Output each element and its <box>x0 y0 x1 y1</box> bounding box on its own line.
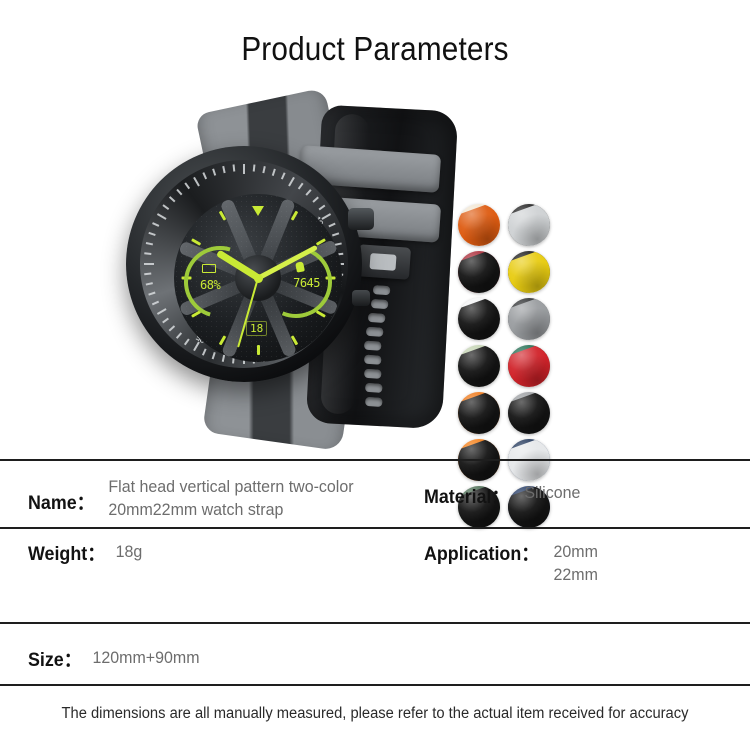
bezel-tick <box>144 263 154 265</box>
spec-label-application: Application： <box>424 539 539 566</box>
color-swatch-black-gray[interactable] <box>508 298 550 340</box>
bezel-tick <box>212 169 216 176</box>
watch-pusher-button <box>352 290 370 306</box>
spec-row-material: Material： Silicone <box>424 482 584 509</box>
bezel-tick <box>169 326 175 332</box>
battery-value: 68% <box>200 278 220 292</box>
bezel-tick <box>157 308 167 315</box>
bezel-tick <box>177 333 183 339</box>
swatch-gloss <box>508 392 550 434</box>
color-option-grid[interactable] <box>458 204 558 512</box>
spec-value-name: Flat head vertical pattern two-color 20m… <box>99 476 354 522</box>
color-swatch-sage-black[interactable] <box>458 345 500 387</box>
swatch-gloss <box>458 251 500 293</box>
spec-row-size: Size： 120mm+90mm <box>28 645 207 672</box>
swatch-gloss <box>508 345 550 387</box>
bezel-tick <box>203 349 207 356</box>
spec-value-application: 20mm 22mm <box>546 539 598 587</box>
swatch-gloss <box>508 298 550 340</box>
bezel-tick <box>329 223 336 227</box>
bezel-tick <box>319 205 326 210</box>
bezel-tick <box>144 273 151 275</box>
bezel-tick <box>332 232 339 236</box>
bezel-tick <box>222 166 225 173</box>
table-divider <box>0 527 750 529</box>
product-hero: 1015203035 68% 7645 18 <box>0 92 750 442</box>
spec-row-application: Application： 20mm 22mm <box>424 539 602 587</box>
battery-icon <box>202 264 216 273</box>
bezel-tick <box>281 172 285 179</box>
strap-vent-hole <box>366 327 384 337</box>
strap-vent-hole <box>365 383 383 393</box>
bezel-tick <box>203 172 207 179</box>
bezel-tick <box>146 283 153 286</box>
bezel-tick <box>149 292 156 296</box>
bezel-tick <box>288 177 295 187</box>
table-divider <box>0 622 750 624</box>
bezel-tick <box>185 339 190 346</box>
spec-value-name-line1: Flat head vertical pattern two-color <box>108 476 353 499</box>
bezel-tick <box>152 223 159 227</box>
swatch-gloss <box>458 204 500 246</box>
bezel-tick <box>243 164 245 174</box>
spec-label-size: Size： <box>28 645 82 672</box>
measurement-disclaimer: The dimensions are all manually measured… <box>19 705 732 723</box>
spec-value-weight: 18g <box>110 539 142 564</box>
watch-case: 1015203035 68% 7645 18 <box>126 146 362 382</box>
color-swatch-green-red[interactable] <box>508 345 550 387</box>
spec-label-material: Material： <box>424 482 509 509</box>
bezel-tick <box>212 352 216 359</box>
color-swatch-black-yellow[interactable] <box>508 251 550 293</box>
bezel-tick <box>263 166 266 173</box>
swatch-gloss <box>458 345 500 387</box>
swatch-gloss <box>458 392 500 434</box>
bezel-tick <box>222 355 225 362</box>
bezel-tick <box>272 169 276 176</box>
color-swatch-gray-black[interactable] <box>508 392 550 434</box>
watch-dial: 68% 7645 18 <box>174 194 342 362</box>
steps-value: 7645 <box>293 276 320 290</box>
swatch-gloss <box>508 251 550 293</box>
bezel-tick <box>157 213 167 220</box>
page-title: Product Parameters <box>38 30 713 68</box>
product-watch-image: 1015203035 68% 7645 18 <box>118 98 458 438</box>
spec-value-application-line2: 22mm <box>554 564 598 587</box>
bezel-tick <box>163 318 170 323</box>
dial-top-marker <box>252 206 264 216</box>
watch-crown <box>348 208 374 230</box>
spec-label-name: Name： <box>28 476 95 515</box>
bezel-tick <box>149 232 156 236</box>
table-divider <box>0 459 750 461</box>
color-swatch-black-silver[interactable] <box>508 204 550 246</box>
bezel-tick <box>298 183 303 190</box>
spec-value-name-line2: 20mm22mm watch strap <box>108 499 353 522</box>
bezel-tick <box>152 301 159 305</box>
table-divider <box>0 684 750 686</box>
bezel-tick <box>177 189 183 195</box>
dial-index <box>257 345 260 355</box>
strap-vent-hole <box>373 285 391 295</box>
bezel-tick <box>313 197 319 203</box>
hand-center-cap <box>254 274 263 283</box>
strap-vent-hole <box>370 299 388 309</box>
spec-label-weight: Weight： <box>28 539 105 566</box>
spec-value-size: 120mm+90mm <box>85 645 200 670</box>
strap-vent-hole <box>365 397 383 407</box>
spec-value-material: Silicone <box>515 482 580 505</box>
bezel-tick <box>185 183 190 190</box>
strap-vent-hole <box>364 369 382 379</box>
spec-row-name: Name： Flat head vertical pattern two-col… <box>28 476 370 522</box>
bezel-tick <box>163 205 170 210</box>
bezel-tick <box>193 177 200 187</box>
strap-vent-hole <box>368 313 386 323</box>
bezel-tick <box>169 197 175 203</box>
date-value: 18 <box>246 321 267 336</box>
color-swatch-orange-cream[interactable] <box>458 204 500 246</box>
strap-buckle <box>357 244 411 280</box>
watch-bezel: 1015203035 68% 7645 18 <box>140 160 348 368</box>
bezel-tick <box>233 164 235 171</box>
spec-row-weight: Weight： 18g <box>28 539 144 566</box>
bezel-tick <box>146 242 153 245</box>
bezel-tick <box>253 164 255 171</box>
color-swatch-red-black[interactable] <box>458 251 500 293</box>
spec-value-application-line1: 20mm <box>554 541 598 564</box>
bezel-tick <box>144 253 151 255</box>
swatch-gloss <box>458 298 500 340</box>
swatch-gloss <box>508 204 550 246</box>
color-swatch-orange-black[interactable] <box>458 392 500 434</box>
strap-vent-hole <box>364 355 382 365</box>
bezel-tick <box>306 189 312 195</box>
color-swatch-white-black[interactable] <box>458 298 500 340</box>
strap-vent-hole <box>364 341 382 351</box>
